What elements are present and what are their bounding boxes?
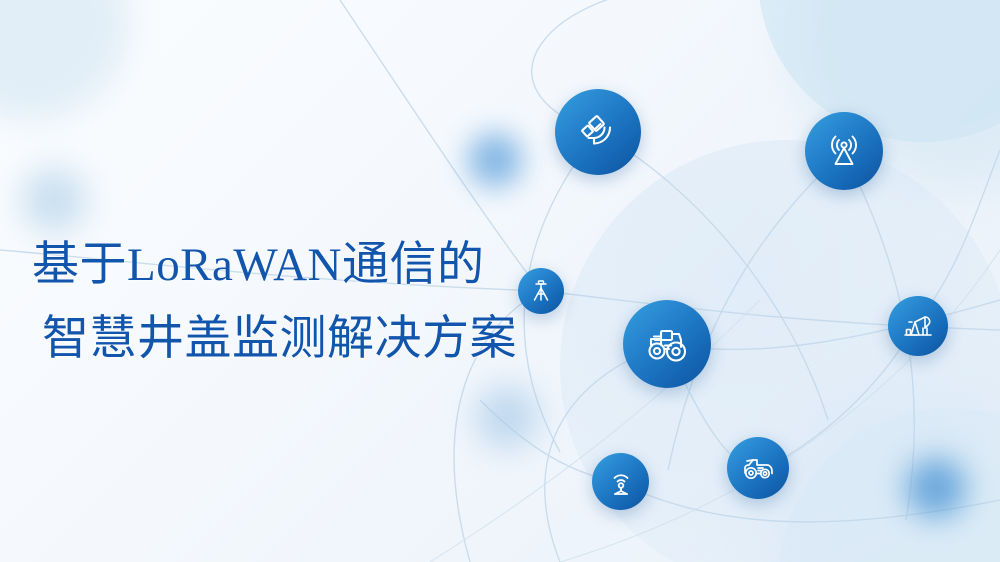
page-title: 基于LoRaWAN通信的 智慧井盖监测解决方案 [32, 228, 592, 376]
node-harvester[interactable] [727, 437, 789, 499]
node-satellite[interactable] [555, 89, 641, 175]
harvester-vehicle-icon [739, 449, 777, 487]
title-slide: 基于LoRaWAN通信的 智慧井盖监测解决方案 [0, 0, 1000, 562]
wireless-sensor-icon [604, 465, 638, 499]
radio-tower-icon [822, 129, 866, 173]
oil-pumpjack-icon [900, 308, 936, 344]
background-blob-left-middle [22, 168, 86, 232]
tractor-icon [641, 318, 693, 370]
satellite-signal-icon [574, 108, 622, 156]
node-sensor[interactable] [592, 453, 649, 510]
decorative-sphere-top-right [758, 0, 1000, 142]
background-blob-top-left [0, 0, 130, 122]
node-tractor[interactable] [623, 300, 711, 388]
background-blob-center [468, 133, 522, 187]
title-line-1: 基于LoRaWAN通信的 [32, 228, 592, 302]
background-blob-bottom-right [760, 382, 1000, 562]
background-blob-bottom-right-accent [906, 458, 966, 518]
decorative-sphere-bottom-right [780, 408, 1000, 562]
node-radio-tower[interactable] [805, 112, 883, 190]
node-oil-pump[interactable] [888, 296, 948, 356]
background-blob-lower-center [476, 386, 538, 448]
title-line-2: 智慧井盖监测解决方案 [32, 302, 592, 376]
